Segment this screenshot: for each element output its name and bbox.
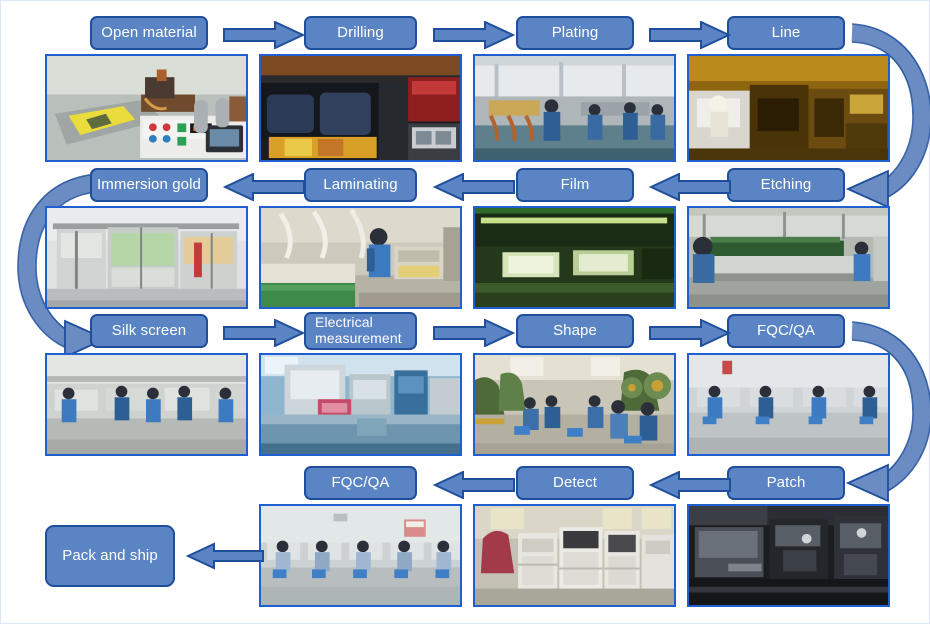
step-box-film[interactable]: Film xyxy=(516,168,634,202)
arrow-open-material-to-drilling xyxy=(223,21,305,49)
photo-immersion-gold-equipment xyxy=(45,206,248,309)
arrow-detect-to-fqc-qa xyxy=(433,471,515,499)
photo-open-material-machine xyxy=(45,54,248,162)
arrow-shape-to-fqc-qa xyxy=(649,319,731,347)
step-box-laminating[interactable]: Laminating xyxy=(304,168,417,202)
arrow-plating-to-line xyxy=(649,21,731,49)
step-box-electrical-measurement[interactable]: Electrical measurement xyxy=(304,312,417,350)
photo-silk-screen-workshop xyxy=(45,353,248,456)
photo-shape-punching-workshop xyxy=(473,353,676,456)
step-box-immersion-gold[interactable]: Immersion gold xyxy=(90,168,208,202)
arrow-electrical-measurement-to-shape xyxy=(433,319,515,347)
step-box-fqc-qa-row4[interactable]: FQC/QA xyxy=(304,466,417,500)
photo-fqc-qa-inspection-row4 xyxy=(259,504,462,607)
photo-etching-line xyxy=(687,206,890,309)
step-box-plating[interactable]: Plating xyxy=(516,16,634,50)
step-box-open-material[interactable]: Open material xyxy=(90,16,208,50)
photo-detect-test-racks xyxy=(473,504,676,607)
arrow-silk-screen-to-electrical-measurement xyxy=(223,319,305,347)
step-box-fqc-qa-row3[interactable]: FQC/QA xyxy=(727,314,845,348)
arrow-laminating-to-immersion-gold xyxy=(223,173,305,201)
photo-plating-line-workers xyxy=(473,54,676,162)
photo-laminating-worker xyxy=(259,206,462,309)
process-flow-diagram: Open material Drilling Plating Line xyxy=(0,0,930,624)
step-box-pack-and-ship[interactable]: Pack and ship xyxy=(45,525,175,587)
step-box-etching[interactable]: Etching xyxy=(727,168,845,202)
step-box-silk-screen[interactable]: Silk screen xyxy=(90,314,208,348)
photo-electrical-test-equipment xyxy=(259,353,462,456)
step-box-line[interactable]: Line xyxy=(727,16,845,50)
photo-drilling-machine xyxy=(259,54,462,162)
photo-fqc-qa-inspection-row3 xyxy=(687,353,890,456)
arrow-drilling-to-plating xyxy=(433,21,515,49)
arrow-patch-to-detect xyxy=(649,471,731,499)
step-box-detect[interactable]: Detect xyxy=(516,466,634,500)
photo-patch-smt-machine xyxy=(687,504,890,607)
arrow-fqc-qa-to-pack-and-ship xyxy=(186,542,264,570)
step-box-patch[interactable]: Patch xyxy=(727,466,845,500)
step-box-drilling[interactable]: Drilling xyxy=(304,16,417,50)
step-box-shape[interactable]: Shape xyxy=(516,314,634,348)
photo-film-room xyxy=(473,206,676,309)
photo-line-yellow-room xyxy=(687,54,890,162)
arrow-film-to-laminating xyxy=(433,173,515,201)
arrow-etching-to-film xyxy=(649,173,731,201)
